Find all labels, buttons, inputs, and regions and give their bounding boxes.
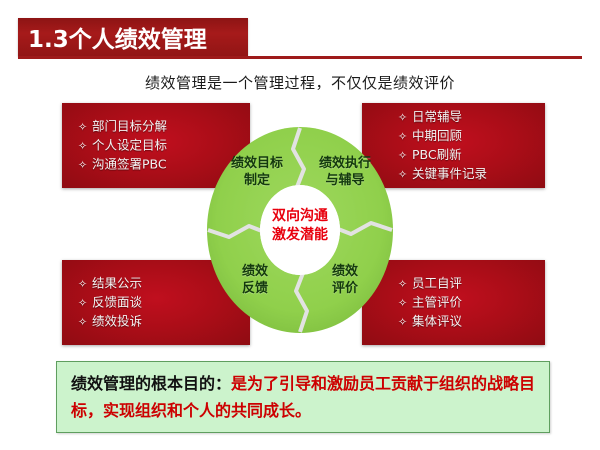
center-line-2: 激发潜能 [250,226,350,245]
diamond-bullet-icon: ✧ [78,118,92,136]
list-item: ✧关键事件记录 [398,165,487,184]
list-item: ✧中期回顾 [398,127,487,146]
slide-canvas: 1.3个人绩效管理 绩效管理是一个管理过程，不仅仅是绩效评价 ✧部门目标分解 ✧… [0,0,600,450]
diamond-bullet-icon: ✧ [398,147,412,165]
diamond-bullet-icon: ✧ [398,109,412,127]
diamond-bullet-icon: ✧ [398,294,412,312]
cycle-segment-evaluation: 绩效 评价 [309,263,381,297]
coaching-list: ✧日常辅导 ✧中期回顾 ✧PBC刷新 ✧关键事件记录 [398,108,487,184]
feedback-list: ✧结果公示 ✧反馈面谈 ✧绩效投诉 [78,274,142,331]
evaluation-list: ✧员工自评 ✧主管评价 ✧集体评议 [398,274,462,331]
segment-line-2: 评价 [309,280,381,297]
list-item-label: 员工自评 [412,275,462,290]
title-divider [18,56,582,59]
diamond-bullet-icon: ✧ [78,294,92,312]
list-item: ✧员工自评 [398,274,462,293]
diamond-bullet-icon: ✧ [78,156,92,174]
diamond-bullet-icon: ✧ [398,166,412,184]
cycle-segment-feedback: 绩效 反馈 [219,263,291,297]
list-item-label: PBC刷新 [412,147,462,162]
list-item-label: 个人设定目标 [92,137,167,152]
goal-setting-list: ✧部门目标分解 ✧个人设定目标 ✧沟通签署PBC [78,117,167,174]
diamond-bullet-icon: ✧ [398,275,412,293]
callout-text: 绩效管理的根本目的：是为了引导和激励员工贡献于组织的战略目标，实现组织和个人的共… [71,370,537,424]
diamond-bullet-icon: ✧ [78,137,92,155]
list-item: ✧集体评议 [398,312,462,331]
diamond-bullet-icon: ✧ [78,313,92,331]
cycle-center-text: 双向沟通 激发潜能 [250,207,350,245]
purpose-callout: 绩效管理的根本目的：是为了引导和激励员工贡献于组织的战略目标，实现组织和个人的共… [56,361,550,433]
title-banner: 1.3个人绩效管理 [18,18,248,56]
segment-line-2: 反馈 [219,280,291,297]
subtitle-text: 绩效管理是一个管理过程，不仅仅是绩效评价 [0,72,600,93]
diamond-bullet-icon: ✧ [398,128,412,146]
segment-line-1: 绩效执行 [303,155,387,172]
segment-line-2: 与辅导 [303,172,387,189]
list-item-label: 部门目标分解 [92,118,167,133]
list-item-label: 集体评议 [412,313,462,328]
list-item-label: 中期回顾 [412,128,462,143]
segment-line-1: 绩效 [219,263,291,280]
list-item: ✧结果公示 [78,274,142,293]
list-item: ✧绩效投诉 [78,312,142,331]
list-item: ✧PBC刷新 [398,146,487,165]
page-title: 1.3个人绩效管理 [28,20,207,54]
diamond-bullet-icon: ✧ [78,275,92,293]
diamond-bullet-icon: ✧ [398,313,412,331]
cycle-segment-goal: 绩效目标 制定 [215,155,299,189]
list-item: ✧反馈面谈 [78,293,142,312]
list-item: ✧日常辅导 [398,108,487,127]
segment-line-1: 绩效 [309,263,381,280]
list-item-label: 结果公示 [92,275,142,290]
list-item-label: 沟通签署PBC [92,156,167,171]
cycle-segment-execution: 绩效执行 与辅导 [303,155,387,189]
performance-cycle-diagram: 绩效目标 制定 绩效执行 与辅导 绩效 反馈 绩效 评价 双向沟通 激发潜能 [205,125,395,335]
list-item: ✧主管评价 [398,293,462,312]
list-item: ✧个人设定目标 [78,136,167,155]
segment-line-1: 绩效目标 [215,155,299,172]
list-item-label: 反馈面谈 [92,294,142,309]
list-item-label: 关键事件记录 [412,166,487,181]
list-item-label: 日常辅导 [412,109,462,124]
callout-label: 绩效管理的根本目的： [71,374,231,393]
list-item-label: 绩效投诉 [92,313,142,328]
list-item: ✧部门目标分解 [78,117,167,136]
list-item-label: 主管评价 [412,294,462,309]
segment-line-2: 制定 [215,172,299,189]
list-item: ✧沟通签署PBC [78,155,167,174]
center-line-1: 双向沟通 [250,207,350,226]
